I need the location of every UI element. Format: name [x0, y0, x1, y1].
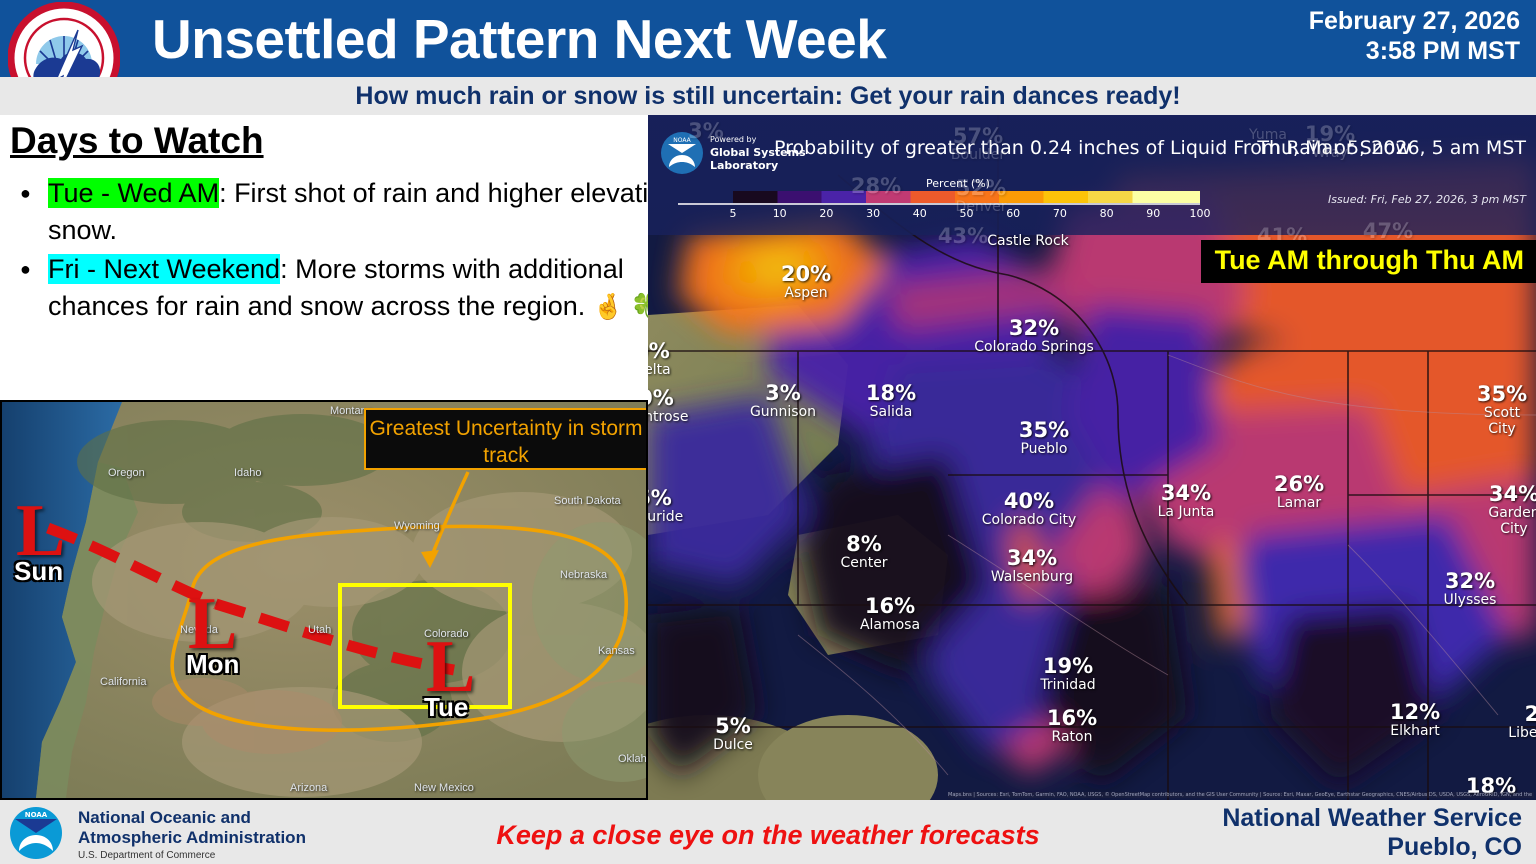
days-to-watch-heading: Days to Watch — [10, 120, 264, 162]
track-map-state-label: Arizona — [290, 782, 327, 794]
station-label: 35%Pueblo — [1019, 419, 1069, 457]
track-map-state-label: Nebraska — [560, 569, 607, 581]
station-name: La Junta — [1158, 504, 1215, 520]
station-name: Telluride — [648, 509, 683, 525]
issued-time: Issued: Fri, Feb 27, 2026, 3 pm MST — [1328, 193, 1526, 206]
station-probability-value: 5% — [713, 715, 753, 737]
station-label: 43% — [938, 225, 988, 247]
colorbar-tick: 100 — [1190, 207, 1211, 220]
station-name: Scott City — [1477, 405, 1527, 437]
station-probability-value: 12% — [1390, 701, 1440, 723]
track-map-state-label: Oregon — [108, 467, 145, 479]
track-map-state-label: Idaho — [234, 467, 262, 479]
station-name: Ulysses — [1444, 592, 1497, 608]
station-probability-value: 18% — [866, 382, 916, 404]
station-probability-value: 35% — [1019, 419, 1069, 441]
station-label: 5%Dulce — [713, 715, 753, 753]
station-label: 20%Aspen — [781, 263, 831, 301]
station-name: Garden City — [1488, 505, 1536, 537]
station-label: 8%Center — [840, 533, 887, 571]
station-name: Montrose — [648, 409, 688, 425]
station-label: 0%Montrose — [648, 387, 688, 425]
station-label: 34%Garden City — [1488, 483, 1536, 537]
station-probability-value: 20% — [781, 263, 831, 285]
station-probability-value: 35% — [1477, 383, 1527, 405]
map-attribution: Maps.bns | Sources: Esri, TomTom, Garmin… — [948, 792, 1534, 798]
station-name: Delta — [648, 362, 671, 378]
station-probability-value: 34% — [1488, 483, 1536, 505]
station-name: Liberal — [1508, 725, 1536, 741]
colorbar-tick: 40 — [913, 207, 927, 220]
station-label: 32%Ulysses — [1444, 570, 1497, 608]
header-time: 3:58 PM MST — [1309, 36, 1520, 66]
station-label: 18%Salida — [866, 382, 916, 420]
station-probability-value: 6% — [648, 487, 683, 509]
gsl-line-2: Laboratory — [710, 159, 806, 172]
storm-track-map: OregonIdahoMontanaWyomingSouth DakotaNeb… — [0, 400, 648, 800]
station-name: Boulder — [951, 147, 1005, 163]
station-label: 16%Raton — [1047, 707, 1097, 745]
station-label: 35%Scott City — [1477, 383, 1527, 437]
station-probability-value: 34% — [991, 547, 1073, 569]
station-probability-value: 3% — [750, 382, 816, 404]
station-name: Gunnison — [750, 404, 816, 420]
station-label: 3%Gunnison — [750, 382, 816, 420]
colorbar: 5102030405060708090100 — [678, 191, 1200, 209]
station-name: Yuma — [1249, 127, 1287, 143]
office-name: National Weather Service — [1222, 804, 1522, 833]
track-map-state-label: Wyoming — [394, 520, 440, 532]
days-to-watch-list: Tue - Wed AM: First shot of rain and hig… — [8, 175, 684, 328]
station-probability-value: 19% — [1040, 655, 1095, 677]
station-label: 12%Elkhart — [1390, 701, 1440, 739]
low-pressure-day-label: Sun — [14, 556, 63, 587]
station-probability-value: 52% — [956, 177, 1007, 199]
station-name: Pueblo — [1019, 441, 1069, 457]
station-probability-value: 34% — [1158, 482, 1215, 504]
station-label: 9%Delta — [648, 340, 671, 378]
station-probability-value: 9% — [648, 340, 671, 362]
station-probability-value: 8% — [840, 533, 887, 555]
station-probability-value: 40% — [982, 490, 1076, 512]
track-map-state-label: Oklahoma — [618, 753, 648, 765]
days-to-watch-item: Fri - Next Weekend: More storms with add… — [48, 251, 684, 326]
station-name: Wray — [1305, 145, 1355, 161]
station-probability-value: 16% — [860, 595, 920, 617]
header-bar: Unsettled Pattern Next Week February 27,… — [0, 0, 1536, 77]
station-label: 32%Colorado Springs — [974, 317, 1094, 355]
station-label: 57%Boulder — [951, 125, 1005, 163]
colorbar-tick: 90 — [1146, 207, 1160, 220]
colorbar-tick: 70 — [1053, 207, 1067, 220]
station-probability-value: 26% — [1274, 473, 1324, 495]
station-label: 16%Alamosa — [860, 595, 920, 633]
days-to-watch-panel: Days to Watch Tue - Wed AM: First shot o… — [0, 115, 648, 400]
track-map-state-label: Utah — [308, 624, 331, 636]
footer-bar: NOAA National Oceanic and Atmospheric Ad… — [0, 800, 1536, 864]
days-to-watch-item: Tue - Wed AM: First shot of rain and hig… — [48, 175, 684, 249]
weather-briefing-slide: Unsettled Pattern Next Week February 27,… — [0, 0, 1536, 864]
station-probability-value: 3% — [688, 120, 724, 142]
colorbar-tick: 30 — [866, 207, 880, 220]
station-label: 26%Lamar — [1274, 473, 1324, 511]
station-name: Trinidad — [1040, 677, 1095, 693]
station-name: Dulce — [713, 737, 753, 753]
bullet-highlight: Tue - Wed AM — [48, 178, 219, 208]
station-label: 19%Wray — [1305, 123, 1355, 161]
page-title: Unsettled Pattern Next Week — [152, 4, 886, 74]
colorbar-tick: 20 — [819, 207, 833, 220]
station-label: Castle Rock — [987, 233, 1069, 249]
station-probability-value: 47% — [1363, 220, 1413, 242]
colorbar-axis-line — [678, 203, 1200, 205]
station-probability-value: 43% — [938, 225, 988, 247]
station-name: Salida — [866, 404, 916, 420]
station-name: Aspen — [781, 285, 831, 301]
station-label: 34%La Junta — [1158, 482, 1215, 520]
station-name: Raton — [1047, 729, 1097, 745]
station-label: 28% — [851, 175, 901, 197]
bullet-highlight: Fri - Next Weekend — [48, 254, 280, 284]
station-name: Lamar — [1274, 495, 1324, 511]
station-probability-value: 28% — [851, 175, 901, 197]
track-map-state-label: New Mexico — [414, 782, 474, 794]
station-label: 52%Denver — [956, 177, 1007, 215]
station-name: Colorado City — [982, 512, 1076, 528]
valid-time: Thu, Mar 5, 2026, 5 am MST — [1257, 137, 1526, 159]
probability-map-header: NOAA Powered by Global Systems Laborator… — [648, 115, 1536, 235]
subtitle-text: How much rain or snow is still uncertain… — [0, 77, 1536, 115]
subtitle-bar: How much rain or snow is still uncertain… — [0, 77, 1536, 115]
office-identifier: National Weather Service Pueblo, CO — [1222, 804, 1522, 862]
colorbar-tick: 80 — [1100, 207, 1114, 220]
uncertainty-callout: Greatest Uncertainty in storm track — [364, 408, 648, 470]
station-name: Center — [840, 555, 887, 571]
office-location: Pueblo, CO — [1222, 833, 1522, 862]
station-label: Yuma — [1249, 127, 1287, 143]
station-name: Elkhart — [1390, 723, 1440, 739]
station-probability-value: 16% — [1047, 707, 1097, 729]
header-date: February 27, 2026 — [1309, 6, 1520, 36]
station-label: 40%Colorado City — [982, 490, 1076, 528]
colorbar-tick: 10 — [773, 207, 787, 220]
track-map-state-label: South Dakota — [554, 495, 621, 507]
station-name: Walsenburg — [991, 569, 1073, 585]
station-label: 2Liberal — [1508, 703, 1536, 741]
track-map-state-label: Kansas — [598, 645, 635, 657]
station-probability-value: 57% — [951, 125, 1005, 147]
station-label: 19%Trinidad — [1040, 655, 1095, 693]
colorbar-tick: 60 — [1006, 207, 1020, 220]
station-label: 6%Telluride — [648, 487, 683, 525]
station-label: 3% — [688, 120, 724, 142]
station-probability-value: 2 — [1508, 703, 1536, 725]
station-name: Colorado Springs — [974, 339, 1094, 355]
time-window-badge: Tue AM through Thu AM — [1201, 240, 1536, 283]
station-probability-value: 32% — [1444, 570, 1497, 592]
header-datetime: February 27, 2026 3:58 PM MST — [1309, 6, 1520, 66]
station-label: 47% — [1363, 220, 1413, 242]
low-pressure-day-label: Tue — [424, 692, 468, 723]
station-label: 34%Walsenburg — [991, 547, 1073, 585]
station-probability-value: 0% — [648, 387, 688, 409]
station-name: Castle Rock — [987, 233, 1069, 249]
station-name: Alamosa — [860, 617, 920, 633]
probability-forecast-map: NOAA Powered by Global Systems Laborator… — [648, 115, 1536, 800]
low-pressure-day-label: Mon — [186, 649, 239, 680]
station-name: Denver — [956, 199, 1007, 215]
station-probability-value: 19% — [1305, 123, 1355, 145]
colorbar-tick: 5 — [730, 207, 737, 220]
track-map-state-label: California — [100, 676, 146, 688]
station-probability-value: 32% — [974, 317, 1094, 339]
